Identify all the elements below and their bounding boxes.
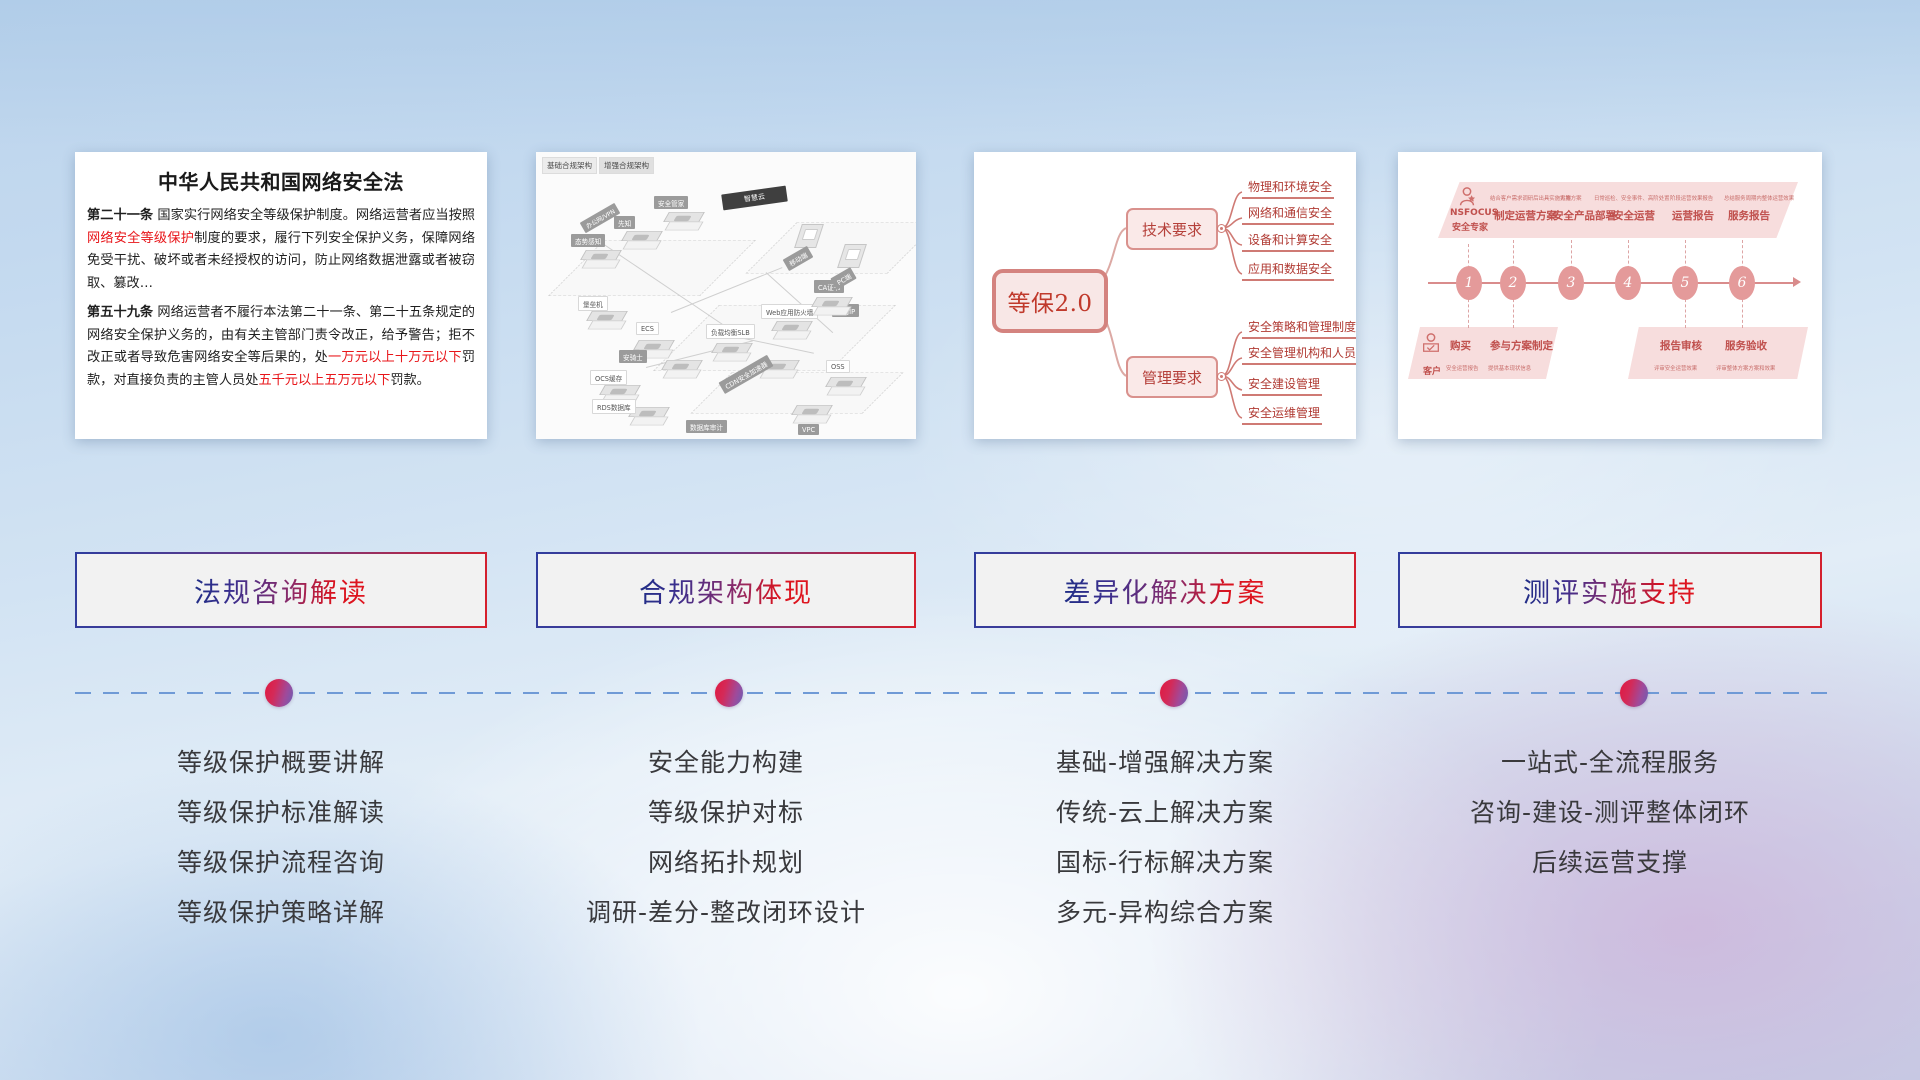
law-document: 中华人民共和国网络安全法 第二十一条 国家实行网络安全等级保护制度。网络运营者应… [75, 152, 487, 439]
architecture-tab-basic[interactable]: 基础合规架构 [542, 157, 597, 174]
mindmap-leaf-tech-0: 物理和环境安全 [1242, 178, 1334, 199]
law-body: 第二十一条 国家实行网络安全等级保护制度。网络运营者应当按照网络安全等级保护制度… [75, 205, 487, 393]
mindmap-leaf-tech-1: 网络和通信安全 [1242, 204, 1334, 225]
timeline-node-6[interactable]: 6 [1729, 266, 1755, 300]
heading-box-regulation-consulting[interactable]: 法规咨询解读 [75, 552, 487, 628]
architecture-diagram: 基础合规架构 增强合规架构 智慧云 态势感知 先知 安全管家 [536, 152, 916, 439]
card-cloud-architecture[interactable]: 基础合规架构 增强合规架构 智慧云 态势感知 先知 安全管家 [536, 152, 916, 439]
timeline-actor-customer: 客户 [1423, 364, 1441, 377]
cards-row: 中华人民共和国网络安全法 第二十一条 国家实行网络安全等级保护制度。网络运营者应… [0, 0, 1920, 460]
mindmap-leaf-mgmt-2: 安全建设管理 [1242, 375, 1322, 396]
mindmap-leaf-mgmt-3: 安全运维管理 [1242, 404, 1322, 425]
architecture-tabs[interactable]: 基础合规架构 增强合规架构 [542, 157, 654, 174]
list-item: 等级保护策略详解 [75, 888, 487, 938]
law-article-21-highlight: 网络安全等级保护 [87, 231, 194, 246]
list-item: 多元-异构综合方案 [974, 888, 1356, 938]
architecture-tab-enhanced[interactable]: 增强合规架构 [599, 157, 654, 174]
timeline-bottom-2-title: 参与方案制定 [1490, 338, 1553, 353]
mindmap-branch-technical[interactable]: 技术要求 [1126, 208, 1218, 250]
arch-label-bastion: 堡垒机 [578, 296, 608, 311]
list-item: 后续运营支撑 [1390, 838, 1830, 888]
timeline-step-4-title: 安全运营 [1613, 208, 1655, 223]
arch-label-rds: RDS数据库 [592, 399, 636, 414]
timeline-node-2[interactable]: 2 [1500, 266, 1526, 300]
arch-node-xianzhi-icon [624, 228, 658, 254]
timeline-bottom-3-sub: 评审安全运营效果 [1654, 364, 1697, 372]
law-article-59-highlight-1: 一万元以上十万元以下 [328, 350, 462, 365]
timeline-bottom-1-title: 购买 [1450, 338, 1471, 353]
law-article-59-text3: 罚款。 [390, 373, 430, 388]
timeline-step-6-sub: 总结服务周期内整体运营效果 [1724, 194, 1794, 202]
law-article-59: 第五十九条 网络运营者不履行本法第二十一条、第二十五条规定的网络安全保护义务的，… [87, 302, 475, 393]
timeline-dot-4[interactable] [1620, 679, 1648, 707]
timeline-actor-provider-line2: 安全专家 [1452, 220, 1488, 233]
list-item: 等级保护流程咨询 [75, 838, 487, 888]
arch-label-situational-awareness: 态势感知 [571, 234, 605, 247]
mindmap-collapse-dot-technical[interactable] [1217, 224, 1226, 233]
timeline-step-2-title: 制定运营方案 [1494, 208, 1557, 223]
law-title: 中华人民共和国网络安全法 [75, 166, 487, 195]
mindmap-collapse-dot-management[interactable] [1217, 372, 1226, 381]
timeline-dot-1[interactable] [265, 679, 293, 707]
heading-label-1: 法规咨询解读 [194, 571, 368, 610]
timeline-bottom-4-sub: 评审整体方案方案和效果 [1716, 364, 1775, 372]
list-item: 一站式-全流程服务 [1390, 738, 1830, 788]
timeline-step-6-title: 服务报告 [1728, 208, 1770, 223]
arch-node-anti-ddos-icon [814, 294, 848, 320]
law-article-59-highlight-2: 五千元以上五万元以下 [258, 373, 390, 388]
timeline-step-5-sub: 阶段运营效果报告 [1670, 194, 1713, 202]
mindmap-leaf-mgmt-0: 安全策略和管理制度 [1242, 318, 1356, 339]
arch-node-bastion-icon [589, 308, 623, 334]
service-timeline: NSFOCUS 安全专家 结合客户需求调研后出具实施方案 制定运营方案 实施方案… [1398, 152, 1822, 439]
heading-box-differentiated-solution[interactable]: 差异化解决方案 [974, 552, 1356, 628]
law-article-21-label: 第二十一条 [87, 208, 153, 223]
arch-label-waf: Web应用防火墙 [761, 304, 818, 319]
customer-person-icon [1420, 332, 1442, 354]
timeline-step-3-sub: 实施方案 [1560, 194, 1582, 202]
timeline-step-2-sub: 结合客户需求调研后出具实施方案 [1490, 194, 1571, 202]
list-item: 调研-差分-整改闭环设计 [526, 888, 926, 938]
timeline-node-1[interactable]: 1 [1456, 266, 1482, 300]
arch-label-oss: OSS [826, 360, 850, 373]
list-column-3: 基础-增强解决方案 传统-云上解决方案 国标-行标解决方案 多元-异构综合方案 [974, 738, 1356, 938]
card-mindmap-dengbao[interactable]: 等保2.0 技术要求 物理和环境安全 网络和通信安全 设备和计算安全 应用和数据… [974, 152, 1356, 439]
heading-label-4: 测评实施支持 [1523, 571, 1697, 610]
list-item: 等级保护概要讲解 [75, 738, 487, 788]
timeline-step-4-sub: 日常巡检、安全事件、高阶处置 [1594, 194, 1669, 202]
list-item: 咨询-建设-测评整体闭环 [1390, 788, 1830, 838]
list-item: 国标-行标解决方案 [974, 838, 1356, 888]
arch-label-ocs: OCS缓存 [590, 370, 627, 385]
arch-label-anqishi: 安骑士 [619, 350, 647, 363]
arch-label-smart-cloud: 智慧云 [721, 186, 788, 211]
arch-label-vpc: VPC [798, 424, 819, 435]
arch-node-rds-icon [631, 404, 665, 430]
mindmap-leaf-tech-3: 应用和数据安全 [1242, 260, 1334, 281]
mindmap-root-node[interactable]: 等保2.0 [992, 269, 1108, 333]
list-column-1: 等级保护概要讲解 等级保护标准解读 等级保护流程咨询 等级保护策略详解 [75, 738, 487, 938]
heading-inner-2: 合规架构体现 [538, 554, 914, 626]
arch-label-security-butler: 安全管家 [654, 196, 688, 209]
arch-node-security-butler-icon [666, 209, 700, 235]
law-article-59-label: 第五十九条 [87, 305, 153, 320]
timeline-dashed-line [75, 692, 1835, 694]
arch-node-waf-icon [774, 318, 808, 344]
timeline-dot-2[interactable] [715, 679, 743, 707]
arch-node-slb-icon [714, 340, 748, 366]
list-column-2: 安全能力构建 等级保护对标 网络拓扑规划 调研-差分-整改闭环设计 [526, 738, 926, 938]
timeline-node-4[interactable]: 4 [1615, 266, 1641, 300]
mindmap-leaf-tech-2: 设备和计算安全 [1242, 231, 1334, 252]
list-item: 等级保护对标 [526, 788, 926, 838]
arch-label-xianzhi: 先知 [614, 216, 635, 229]
list-column-4: 一站式-全流程服务 咨询-建设-测评整体闭环 后续运营支撑 [1390, 738, 1830, 888]
timeline-step-3-title: 安全产品部署 [1553, 208, 1616, 223]
card-service-timeline[interactable]: NSFOCUS 安全专家 结合客户需求调研后出具实施方案 制定运营方案 实施方案… [1398, 152, 1822, 439]
arch-node-situational-awareness-icon [583, 247, 617, 273]
timeline-bottom-3-title: 报告审核 [1660, 338, 1702, 353]
law-article-21-text1: 国家实行网络安全等级保护制度。网络运营者应当按照 [157, 208, 475, 223]
timeline-node-5[interactable]: 5 [1672, 266, 1698, 300]
arch-node-anqishi-icon [664, 357, 698, 383]
heading-inner-4: 测评实施支持 [1400, 554, 1820, 626]
timeline-dot-3[interactable] [1160, 679, 1188, 707]
law-article-21: 第二十一条 国家实行网络安全等级保护制度。网络运营者应当按照网络安全等级保护制度… [87, 205, 475, 296]
heading-inner-1: 法规咨询解读 [77, 554, 485, 626]
list-item: 基础-增强解决方案 [974, 738, 1356, 788]
list-item: 等级保护标准解读 [75, 788, 487, 838]
list-item: 网络拓扑规划 [526, 838, 926, 888]
heading-inner-3: 差异化解决方案 [976, 554, 1354, 626]
list-item: 传统-云上解决方案 [974, 788, 1356, 838]
timeline-step-5-title: 运营报告 [1672, 208, 1714, 223]
timeline-actor-provider-line1: NSFOCUS [1450, 208, 1498, 218]
heading-box-compliance-architecture[interactable]: 合规架构体现 [536, 552, 916, 628]
mindmap: 等保2.0 技术要求 物理和环境安全 网络和通信安全 设备和计算安全 应用和数据… [974, 152, 1356, 439]
heading-label-3: 差异化解决方案 [1064, 571, 1267, 610]
mindmap-leaf-mgmt-1: 安全管理机构和人员 [1242, 344, 1356, 365]
arch-label-db-audit: 数据库审计 [686, 420, 727, 433]
arch-label-ecs: ECS [636, 322, 659, 335]
timeline-arrow-icon [1793, 277, 1801, 287]
mindmap-branch-management[interactable]: 管理要求 [1126, 356, 1218, 398]
arch-plane-right [746, 223, 917, 274]
timeline-bottom-2-sub: 提供基本现状信息 [1488, 364, 1531, 372]
security-expert-person-icon [1456, 186, 1478, 208]
arch-node-oss-icon [828, 374, 862, 400]
heading-label-2: 合规架构体现 [639, 571, 813, 610]
arch-label-slb: 负载均衡SLB [706, 324, 755, 339]
list-item: 安全能力构建 [526, 738, 926, 788]
heading-box-assessment-support[interactable]: 测评实施支持 [1398, 552, 1822, 628]
card-cybersecurity-law[interactable]: 中华人民共和国网络安全法 第二十一条 国家实行网络安全等级保护制度。网络运营者应… [75, 152, 487, 439]
timeline-node-3[interactable]: 3 [1558, 266, 1584, 300]
timeline-bottom-1-sub: 安全运营报告 [1446, 364, 1478, 372]
timeline-bottom-4-title: 服务验收 [1725, 338, 1767, 353]
